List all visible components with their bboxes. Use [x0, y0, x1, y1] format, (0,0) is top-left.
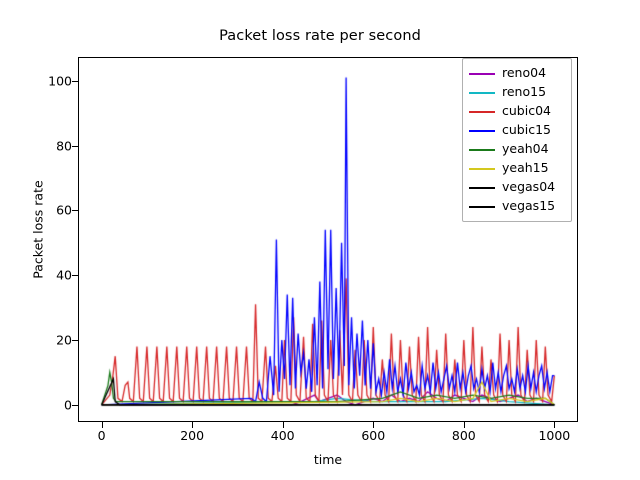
x-tick-mark	[464, 422, 465, 428]
x-tick-label: 1000	[524, 428, 584, 443]
legend-item-label: cubic15	[502, 124, 551, 137]
legend-item-yeah15[interactable]: yeah15	[469, 159, 565, 178]
legend-item-vegas15[interactable]: vegas15	[469, 197, 565, 216]
legend-item-label: vegas15	[502, 200, 555, 213]
legend-color-swatch	[469, 92, 495, 94]
legend-item-cubic15[interactable]: cubic15	[469, 121, 565, 140]
y-tick-label: 80	[38, 138, 72, 153]
legend-item-reno15[interactable]: reno15	[469, 83, 565, 102]
legend-item-label: yeah15	[502, 162, 549, 175]
x-tick-label: 800	[434, 428, 494, 443]
chart-title: Packet loss rate per second	[0, 28, 640, 44]
x-tick-label: 600	[343, 428, 403, 443]
legend-color-swatch	[469, 73, 495, 75]
x-axis-label: time	[78, 452, 578, 467]
y-axis-tick-labels: 020406080100	[34, 0, 72, 480]
legend-item-label: vegas04	[502, 181, 555, 194]
legend-item-label: cubic04	[502, 105, 551, 118]
x-tick-mark	[554, 422, 555, 428]
legend-color-swatch	[469, 149, 495, 151]
y-tick-label: 40	[38, 268, 72, 283]
y-tick-label: 60	[38, 203, 72, 218]
legend-color-swatch	[469, 187, 495, 189]
legend-item-label: reno04	[502, 67, 546, 80]
legend-item-cubic04[interactable]: cubic04	[469, 102, 565, 121]
legend-color-swatch	[469, 206, 495, 208]
legend-color-swatch	[469, 168, 495, 170]
legend-item-yeah04[interactable]: yeah04	[469, 140, 565, 159]
legend-item-reno04[interactable]: reno04	[469, 64, 565, 83]
x-tick-mark	[192, 422, 193, 428]
legend-color-swatch	[469, 111, 495, 113]
legend-item-label: yeah04	[502, 143, 549, 156]
legend-item-label: reno15	[502, 86, 546, 99]
x-tick-mark	[373, 422, 374, 428]
legend-color-swatch	[469, 130, 495, 132]
x-tick-mark	[283, 422, 284, 428]
figure-canvas: Packet loss rate per second Packet loss …	[0, 0, 640, 480]
x-tick-label: 0	[72, 428, 132, 443]
y-tick-label: 100	[38, 73, 72, 88]
legend-item-vegas04[interactable]: vegas04	[469, 178, 565, 197]
y-tick-label: 20	[38, 332, 72, 347]
x-tick-label: 200	[162, 428, 222, 443]
y-tick-label: 0	[38, 397, 72, 412]
x-tick-label: 400	[253, 428, 313, 443]
x-tick-mark	[102, 422, 103, 428]
chart-legend[interactable]: reno04reno15cubic04cubic15yeah04yeah15ve…	[462, 58, 572, 222]
